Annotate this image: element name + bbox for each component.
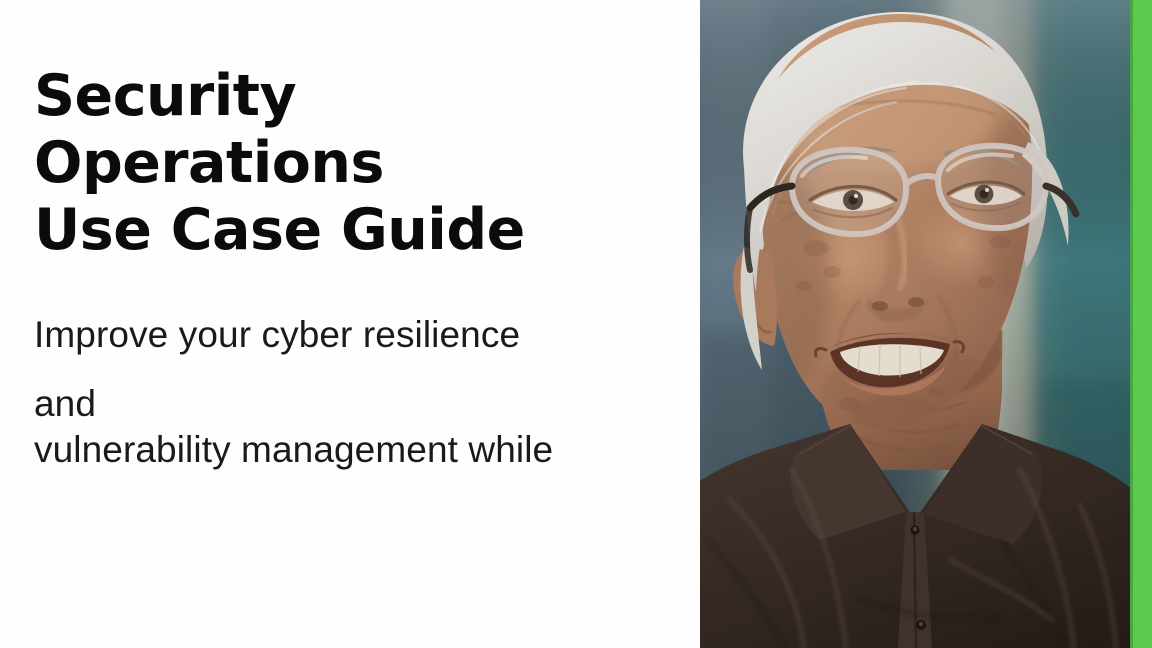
text-panel: Security Operations Use Case Guide Impro… (0, 0, 700, 648)
title-line-2: Operations (34, 130, 674, 197)
page-title: Security Operations Use Case Guide (34, 63, 674, 264)
hero-photo (700, 0, 1130, 648)
subtitle-line-2: and (34, 381, 694, 427)
title-line-1: Security (34, 63, 674, 130)
subtitle-line-1: Improve your cyber resilience (34, 312, 694, 358)
accent-bar-green (1130, 0, 1152, 648)
accent-bar-edge (1130, 0, 1133, 648)
hero-photo-illustration (700, 0, 1130, 648)
subtitle-line-3: vulnerability management while (34, 427, 694, 473)
slide-root: Security Operations Use Case Guide Impro… (0, 0, 1152, 648)
title-line-3: Use Case Guide (34, 197, 674, 264)
page-subtitle: Improve your cyber resilience and vulner… (34, 312, 694, 473)
